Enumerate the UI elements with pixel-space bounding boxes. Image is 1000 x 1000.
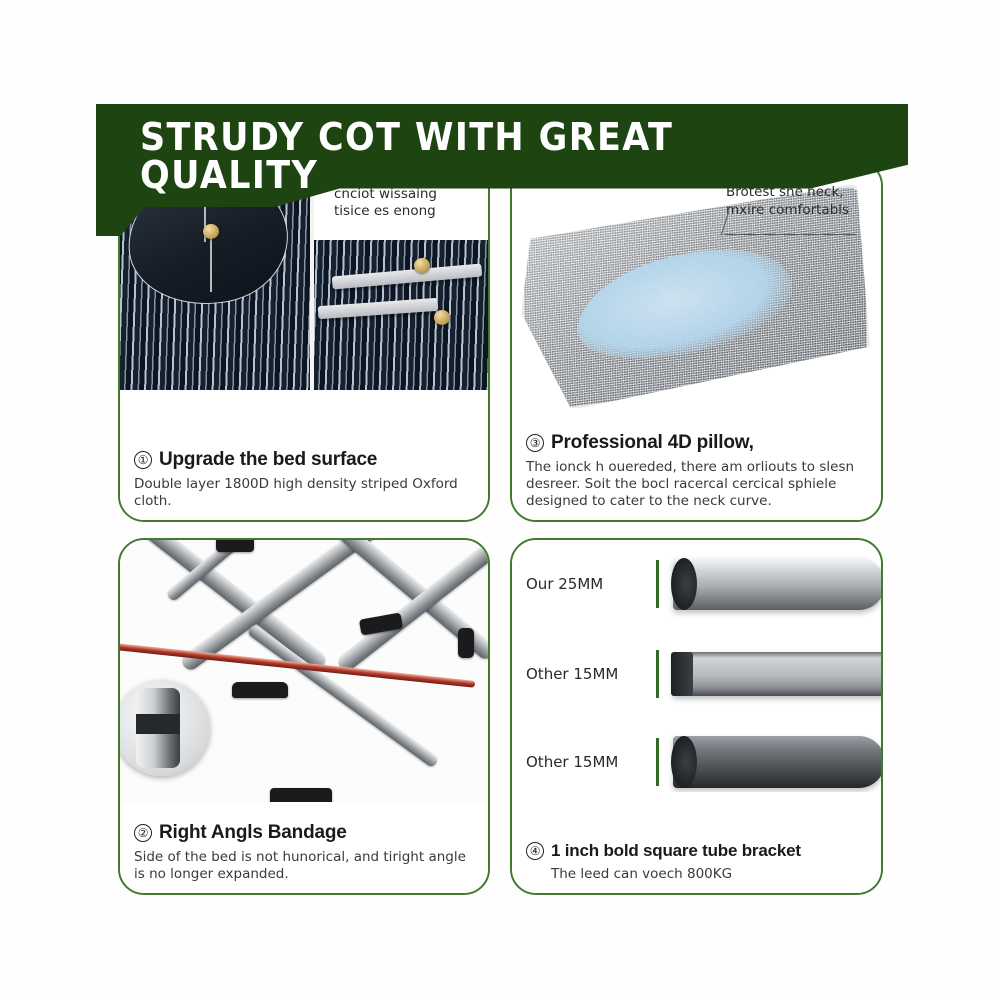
pillow-body: The ionck h ouereded, there am orliouts … xyxy=(526,459,867,510)
pillow-heading: ③ Professional 4D pillow, xyxy=(526,432,867,454)
pillow-photo-note: Brotest she neck, mxire comfortabls xyxy=(726,184,876,219)
bed-surface-heading-text: Upgrade the bed surface xyxy=(159,449,377,471)
joint-zoom-inset xyxy=(120,680,210,776)
fabric-seam-lower xyxy=(318,298,439,319)
frame-cap-right xyxy=(458,628,474,658)
panel-bed-surface: This loyots 1200D cnciot wissaing tisice… xyxy=(118,160,490,522)
panel-4d-pillow: Brotest she neck, mxire comfortabls ③ Pr… xyxy=(510,160,883,522)
tube-bracket-body: The leed can voech 800KG xyxy=(551,866,867,883)
tube-tick-2 xyxy=(656,650,659,698)
tube-tick-3 xyxy=(656,738,659,786)
tube-round-dark xyxy=(673,736,881,788)
panel-number-badge: ② xyxy=(134,824,152,842)
pillow-caption: ③ Professional 4D pillow, The ionck h ou… xyxy=(512,426,881,520)
tube-bracket-heading-text: 1 inch bold square tube bracket xyxy=(551,841,801,861)
tube-cap-3 xyxy=(671,736,697,788)
inset-tube-band xyxy=(136,714,180,734)
panel-number-badge: ③ xyxy=(526,434,544,452)
frame-foot-bottom xyxy=(270,788,332,802)
tube-comparison-photo: Our 25MM Other 15MM Othe xyxy=(512,540,881,792)
infographic-canvas: This loyots 1200D cnciot wissaing tisice… xyxy=(0,0,1000,1000)
rivet-mid xyxy=(203,224,219,239)
panel-tube-bracket: Our 25MM Other 15MM Othe xyxy=(510,538,883,895)
panel-right-angle-bandage: ② Right Angls Bandage Side of the bed is… xyxy=(118,538,490,895)
fabric-seam-upper xyxy=(332,263,483,289)
tube-row-our-25mm: Our 25MM xyxy=(526,558,881,610)
pillow-callout-underline xyxy=(724,234,856,235)
banner-title: STRUDY COT WITH GREAT QUALITY xyxy=(140,118,784,194)
bed-surface-caption: ① Upgrade the bed surface Double layer 1… xyxy=(120,443,488,520)
right-angle-heading: ② Right Angls Bandage xyxy=(134,822,474,844)
tube-cap-1 xyxy=(671,558,697,610)
tube-label-2: Other 15MM xyxy=(526,665,654,683)
tube-round-light xyxy=(673,558,881,610)
feature-panel-grid: This loyots 1200D cnciot wissaing tisice… xyxy=(118,160,883,895)
tube-label-1: Our 25MM xyxy=(526,575,654,593)
panel-number-badge: ① xyxy=(134,451,152,469)
pillow-heading-text: Professional 4D pillow, xyxy=(551,432,754,454)
pin-lower xyxy=(210,234,212,292)
cot-frame-photo xyxy=(120,540,488,802)
pillow-photo: Brotest she neck, mxire comfortabls xyxy=(512,162,881,408)
right-angle-caption: ② Right Angls Bandage Side of the bed is… xyxy=(120,816,488,893)
panel-number-badge: ④ xyxy=(526,842,544,860)
bed-surface-heading: ① Upgrade the bed surface xyxy=(134,449,474,471)
tube-tick-1 xyxy=(656,560,659,608)
frame-foot-left xyxy=(232,682,288,698)
rivet-right-lower xyxy=(434,310,450,325)
tube-square xyxy=(673,652,881,696)
tube-bracket-heading: ④ 1 inch bold square tube bracket xyxy=(526,841,867,861)
right-angle-heading-text: Right Angls Bandage xyxy=(159,822,347,844)
tube-label-3: Other 15MM xyxy=(526,753,654,771)
tube-row-other-15mm-round: Other 15MM xyxy=(526,736,881,788)
frame-joint-top xyxy=(216,540,254,552)
bed-surface-body: Double layer 1800D high density striped … xyxy=(134,476,474,510)
tube-cap-2 xyxy=(671,652,693,696)
tube-bracket-caption: ④ 1 inch bold square tube bracket The le… xyxy=(512,835,881,893)
right-angle-body: Side of the bed is not hunorical, and ti… xyxy=(134,849,474,883)
tube-row-other-15mm-square: Other 15MM xyxy=(526,650,881,698)
rivet-right-upper xyxy=(414,258,430,273)
